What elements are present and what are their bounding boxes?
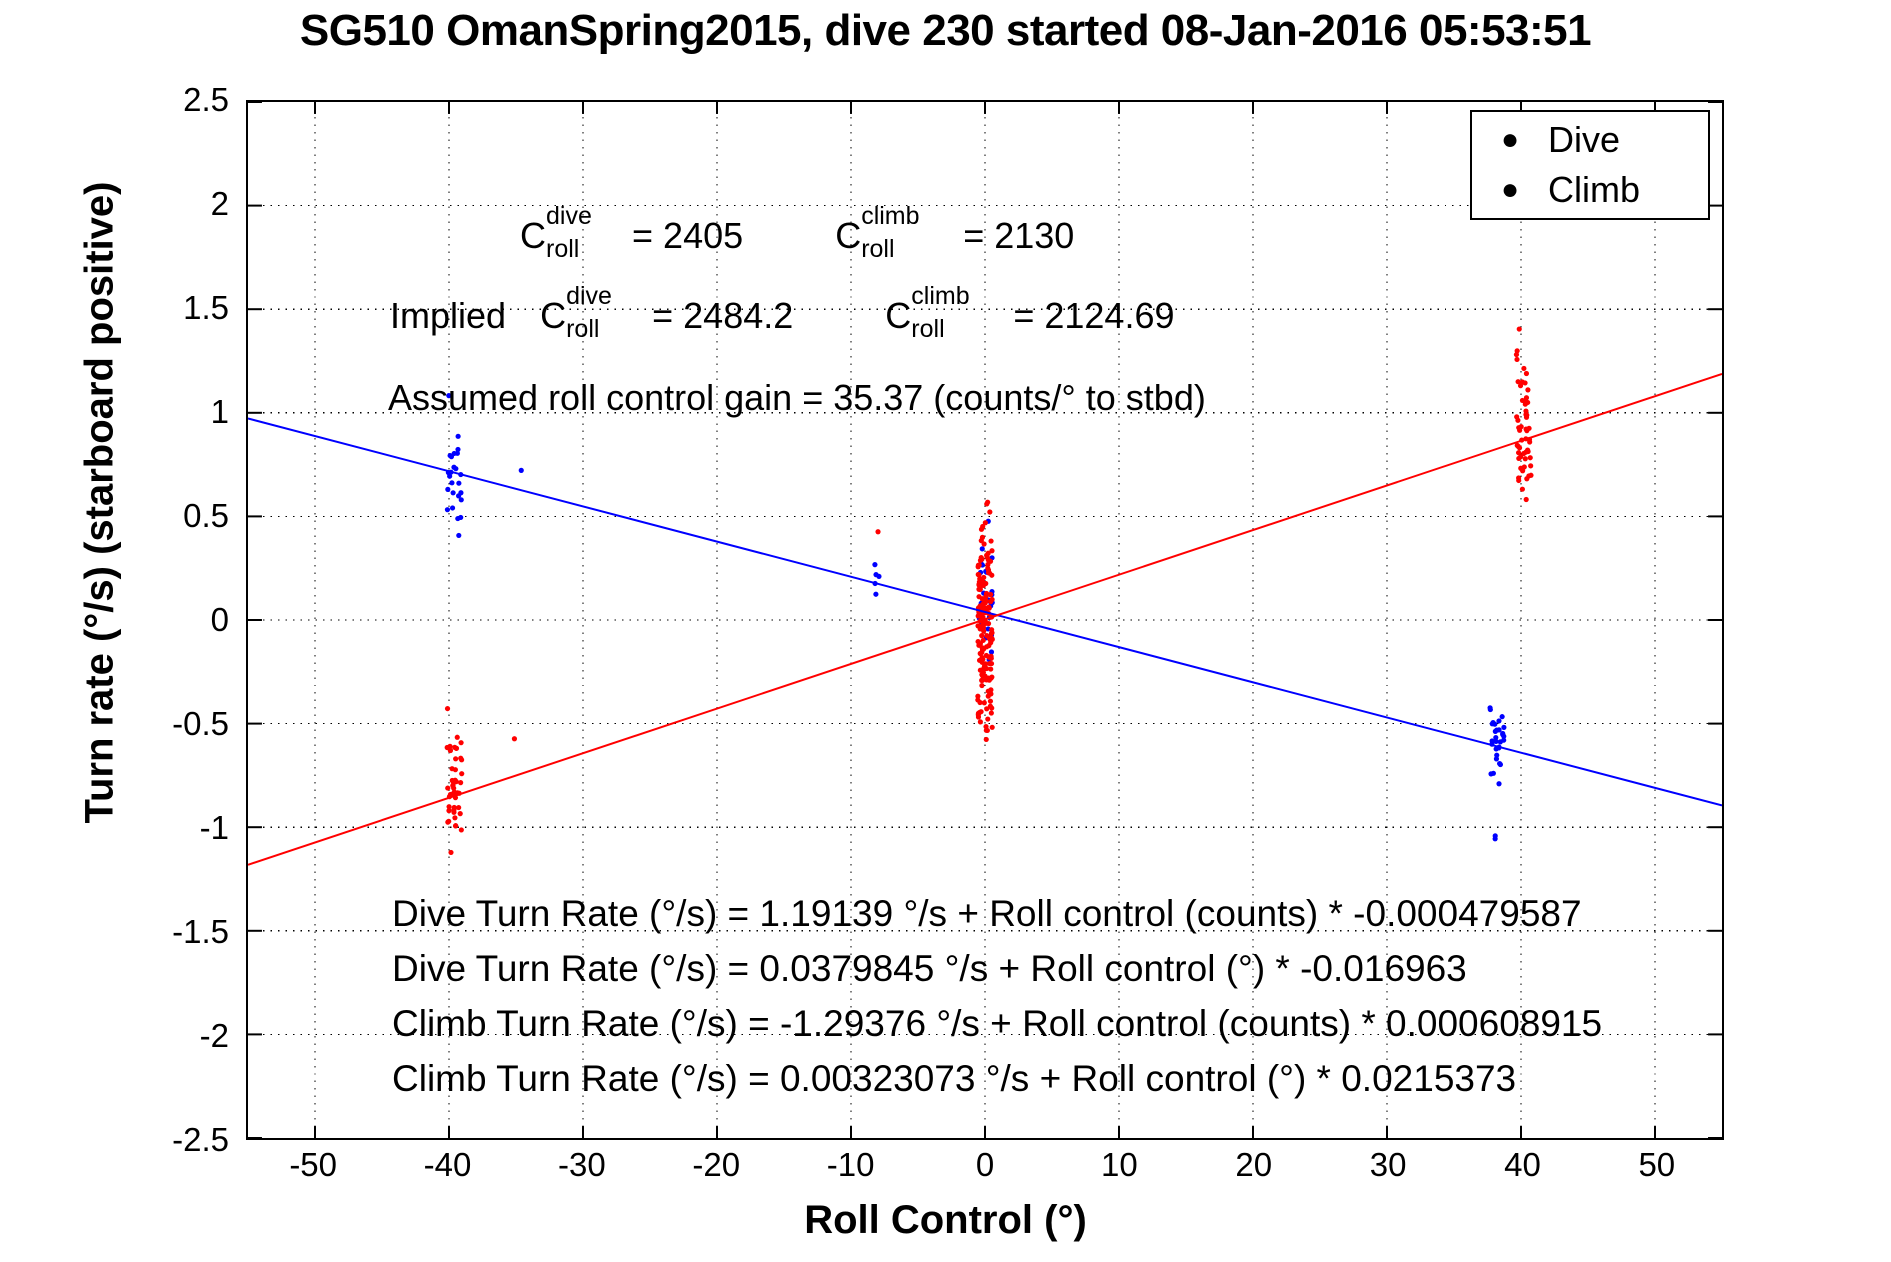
- x-axis-label: Roll Control (°): [0, 1198, 1891, 1243]
- y-tick-label: -0.5: [29, 707, 229, 740]
- legend-item-climb[interactable]: ● Climb: [1472, 165, 1708, 215]
- c-climb-value: = 2130: [963, 215, 1074, 256]
- implied-climb-value: = 2124.69: [1013, 295, 1174, 336]
- equation-dive-degrees: Dive Turn Rate (°/s) = 0.0379845 °/s + R…: [392, 950, 1467, 987]
- y-tick-label: -1: [29, 811, 229, 844]
- chart-title: SG510 OmanSpring2015, dive 230 started 0…: [0, 6, 1891, 56]
- annotation-c-roll-line: Cdiveroll = 2405 Cclimbroll = 2130: [520, 218, 1074, 254]
- fit-line-climb: [248, 374, 1722, 865]
- legend-item-dive[interactable]: ● Dive: [1472, 115, 1708, 165]
- legend-label-climb: Climb: [1530, 169, 1640, 211]
- c-climb-term: Cclimbroll: [835, 218, 865, 254]
- legend-marker-dive: ●: [1490, 125, 1530, 155]
- y-tick-label: -2.5: [29, 1123, 229, 1156]
- implied-c-climb-term: Cclimbroll: [885, 298, 915, 334]
- y-tick-label: -1.5: [29, 915, 229, 948]
- implied-dive-value: = 2484.2: [652, 295, 793, 336]
- series-points-dive: [445, 393, 1507, 841]
- y-tick-label: -2: [29, 1019, 229, 1052]
- equation-climb-degrees: Climb Turn Rate (°/s) = 0.00323073 °/s +…: [392, 1060, 1516, 1097]
- y-tick-label: 0: [29, 603, 229, 636]
- equation-dive-counts: Dive Turn Rate (°/s) = 1.19139 °/s + Rol…: [392, 895, 1582, 932]
- y-tick-label: 1: [29, 395, 229, 428]
- y-tick-label: 2: [29, 187, 229, 220]
- implied-prefix: Implied: [390, 295, 506, 336]
- chart-figure: SG510 OmanSpring2015, dive 230 started 0…: [0, 0, 1891, 1262]
- x-tick-label: 50: [1577, 1148, 1737, 1181]
- y-tick-label: 2.5: [29, 83, 229, 116]
- legend-label-dive: Dive: [1530, 119, 1620, 161]
- implied-c-dive-term: Cdiveroll: [540, 298, 570, 334]
- annotation-gain-line: Assumed roll control gain = 35.37 (count…: [388, 380, 1206, 416]
- c-dive-value: = 2405: [632, 215, 743, 256]
- equation-climb-counts: Climb Turn Rate (°/s) = -1.29376 °/s + R…: [392, 1005, 1602, 1042]
- y-tick-label: 1.5: [29, 291, 229, 324]
- legend: ● Dive ● Climb: [1470, 110, 1710, 220]
- annotation-implied-line: Implied Cdiveroll = 2484.2 Cclimbroll = …: [390, 298, 1174, 334]
- y-tick-label: 0.5: [29, 499, 229, 532]
- legend-marker-climb: ●: [1490, 175, 1530, 205]
- c-dive-term: Cdiveroll: [520, 218, 550, 254]
